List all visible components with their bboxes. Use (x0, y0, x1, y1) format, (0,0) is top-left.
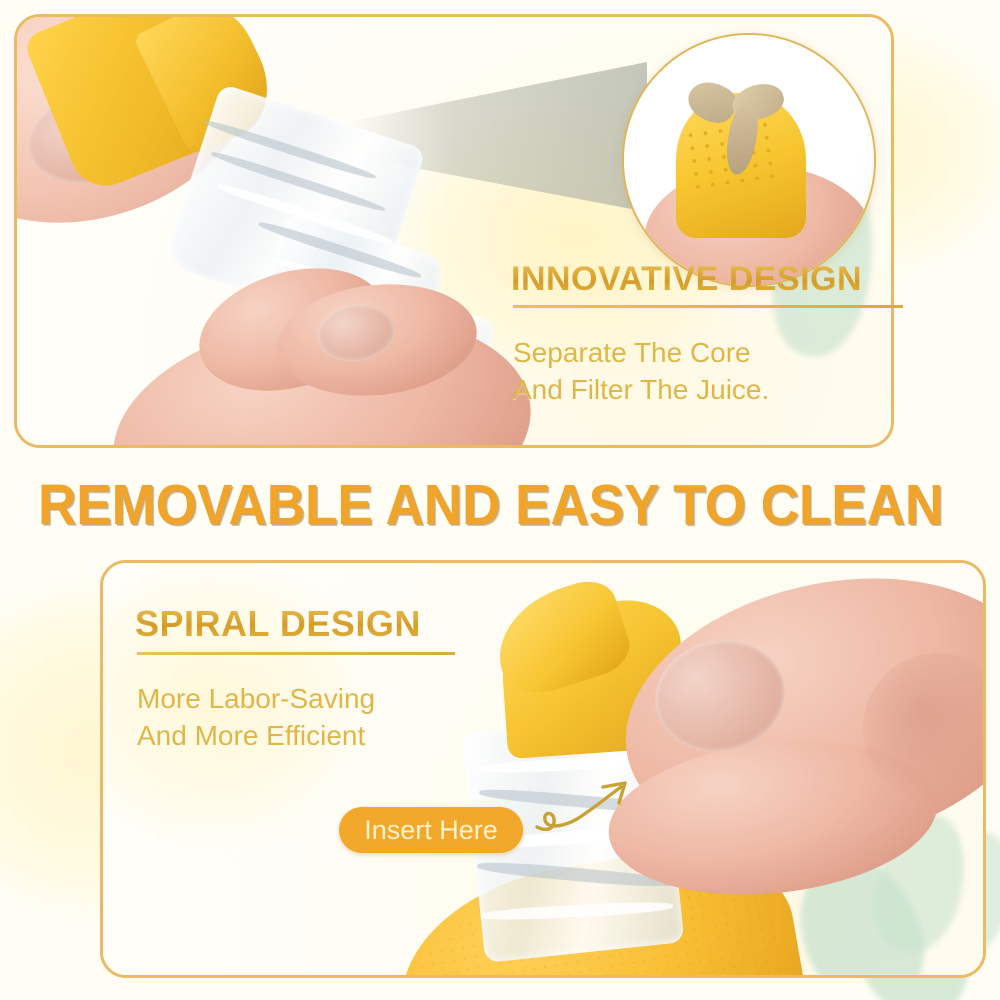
panel-spiral-design: SPIRAL DESIGN More Labor-Saving And More… (100, 560, 986, 978)
curly-arrow-icon (533, 775, 638, 837)
product-feature-banner: INNOVATIVE DESIGN Separate The Core And … (0, 0, 1000, 1000)
callout-circle-cap-detail (622, 33, 876, 287)
insert-here-badge[interactable]: Insert Here (339, 807, 523, 853)
page-headline: REMOVABLE AND EASY TO CLEAN (38, 472, 943, 538)
panel-heading-innovative: INNOVATIVE DESIGN (511, 260, 862, 299)
panel-body-spiral: More Labor-Saving And More Efficient (137, 681, 375, 755)
panel-body-innovative: Separate The Core And Filter The Juice. (513, 335, 769, 409)
panel-innovative-design: INNOVATIVE DESIGN Separate The Core And … (14, 14, 894, 448)
heading-underline (137, 652, 455, 655)
heading-underline (513, 305, 903, 308)
panel-heading-spiral: SPIRAL DESIGN (135, 603, 421, 645)
